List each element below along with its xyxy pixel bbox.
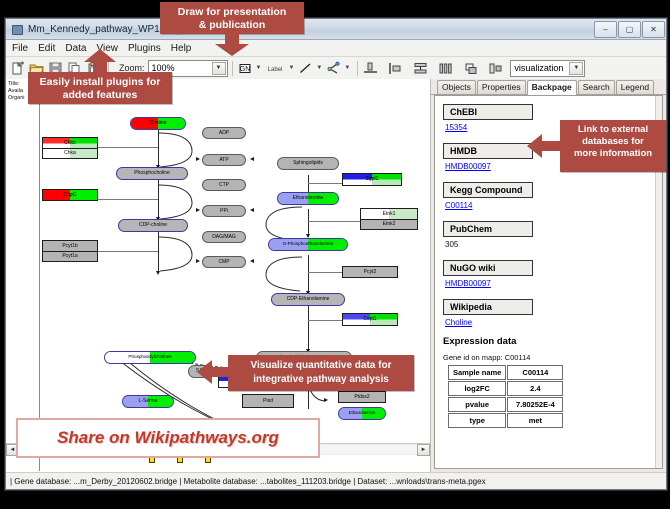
node-cdp-ethanolamine[interactable]: CDP-Ethanolamine	[271, 293, 345, 306]
callout-plugins: Easily install plugins for added feature…	[28, 72, 172, 104]
callout-draw-line2: & publication	[167, 19, 297, 32]
node-pcyt2[interactable]: Pcyt2	[342, 266, 398, 278]
statusbar-text: | Gene database: ...m_Derby_20120602.bri…	[10, 477, 486, 486]
chevron-down-icon[interactable]: ▼	[288, 65, 294, 71]
order-front-icon[interactable]	[487, 60, 504, 77]
table-cell-value: 2.4	[507, 381, 563, 396]
anchor-icon[interactable]	[325, 60, 342, 77]
tab-properties[interactable]: Properties	[477, 80, 526, 94]
pathway-canvas[interactable]: Title: Availa Organi	[6, 79, 430, 471]
node-etnk2[interactable]: Etnk2	[360, 219, 418, 230]
table-cell-value: 7.80252E-4	[507, 397, 563, 412]
backpage-header-wikipedia: Wikipedia	[443, 299, 533, 315]
distribute-icon[interactable]	[437, 60, 454, 77]
toolbar-separator	[357, 61, 358, 76]
arrow-right-icon	[196, 208, 200, 212]
toolbar-separator	[232, 61, 233, 76]
node-phosphocholine[interactable]: Phosphocholine	[116, 167, 188, 180]
maximize-button[interactable]: ▢	[618, 21, 641, 38]
callout-links-arrow-icon	[526, 132, 562, 160]
callout-links-line2: databases for	[567, 136, 659, 148]
chevron-down-icon[interactable]: ▼	[256, 65, 262, 71]
stack-icon[interactable]	[412, 60, 429, 77]
statusbar: | Gene database: ...m_Derby_20120602.bri…	[6, 472, 666, 489]
node-o-phosphoethanolamine[interactable]: O-Phosphoethanolamine	[268, 238, 348, 251]
callout-visualize-line1: Visualize quantitative data for	[235, 359, 407, 373]
arrow-right-icon	[324, 398, 328, 402]
node-ethanolamine-lower[interactable]: Ethanolamine	[338, 407, 386, 420]
table-row: type met	[448, 413, 563, 428]
arrow-right-icon	[196, 259, 200, 263]
node-ppi[interactable]: PPi	[202, 205, 246, 217]
expression-data-title: Expression data	[443, 336, 654, 347]
chevron-down-icon[interactable]: ▼	[316, 65, 322, 71]
close-button[interactable]: ✕	[642, 21, 665, 38]
table-cell-label: type	[448, 413, 506, 428]
table-cell-value: met	[507, 413, 563, 428]
table-cell-label: Sample name	[448, 365, 506, 380]
node-adp[interactable]: ADP	[202, 127, 246, 139]
app-icon	[11, 23, 23, 35]
node-phosphatidylcholines[interactable]: Phosphatidylcholines	[104, 351, 196, 364]
node-chpt1[interactable]: Chpt1	[42, 189, 98, 201]
node-l-serine-left[interactable]: L-Serine	[122, 395, 174, 408]
node-chkb[interactable]: Chkb	[42, 137, 98, 148]
visualization-combobox[interactable]: visualization ▼	[510, 60, 585, 77]
node-pcyt1a[interactable]: Pcyt1a	[42, 251, 98, 262]
menu-item-edit[interactable]: Edit	[38, 43, 55, 54]
callout-visualize: Visualize quantitative data for integrat…	[228, 355, 414, 391]
label-icon[interactable]: Label	[264, 60, 286, 77]
arrow-right-icon	[196, 157, 200, 161]
conversion-arcs-right	[238, 201, 314, 341]
menu-item-file[interactable]: File	[12, 43, 28, 54]
node-sgpl1[interactable]: Sgpl1	[342, 173, 402, 186]
backpage-link-nugo[interactable]: HMDB00097	[445, 279, 654, 288]
datanode-icon[interactable]: GN	[237, 60, 254, 77]
node-cept1[interactable]: Cept1	[342, 313, 398, 326]
scroll-right-icon[interactable]: ►	[417, 444, 430, 456]
callout-draw-arrow-icon	[212, 32, 252, 57]
table-row: pvalue 7.80252E-4	[448, 397, 563, 412]
callout-plugins-line1: Easily install plugins for	[35, 76, 165, 89]
node-pisd[interactable]: Pisd	[242, 394, 294, 408]
backpage-link-kegg[interactable]: C00114	[445, 201, 654, 210]
svg-text:Label: Label	[268, 67, 283, 73]
backpage-header-nugo: NuGO wiki	[443, 260, 533, 276]
chevron-down-icon[interactable]: ▼	[212, 62, 226, 75]
edge-sgpl1-link	[308, 183, 342, 184]
tab-backpage[interactable]: Backpage	[527, 80, 577, 95]
node-ethanolamine-top[interactable]: Ethanolamine	[277, 192, 339, 205]
minimize-button[interactable]: –	[594, 21, 617, 38]
expression-data-table: Sample name C00114 log2FC 2.4 pvalue 7.8…	[447, 364, 564, 429]
arrow-left-icon	[250, 157, 254, 161]
callout-share-text: Share on Wikipathways.org	[57, 428, 279, 448]
new-file-icon[interactable]	[9, 60, 26, 77]
callout-links-line3: more information	[567, 148, 659, 160]
menu-item-plugins[interactable]: Plugins	[128, 43, 161, 54]
pathway-canvas-pane[interactable]: Title: Availa Organi	[6, 79, 431, 472]
menu-item-help[interactable]: Help	[171, 43, 192, 54]
chevron-down-icon[interactable]: ▼	[344, 65, 350, 71]
callout-draw: Draw for presentation & publication	[160, 2, 304, 34]
callout-visualize-line2: integrative pathway analysis	[235, 373, 407, 387]
window-titlebar: Mm_Kennedy_pathway_WP1771_45176.gpml – ▢…	[6, 19, 666, 40]
node-pcyt1b[interactable]: Pcyt1b	[42, 240, 98, 251]
callout-draw-line1: Draw for presentation	[167, 6, 297, 19]
node-atp[interactable]: ATP	[202, 154, 246, 166]
backpage-value-pubchem: 305	[445, 240, 654, 249]
backpage-header-kegg: Kegg Compound	[443, 182, 533, 198]
node-dag-mag[interactable]: DAG/MAG	[202, 231, 246, 243]
arrow-left-icon	[250, 208, 254, 212]
chevron-down-icon[interactable]: ▼	[569, 62, 583, 75]
gene-id-line: Gene id on mapp: C00114	[443, 353, 654, 362]
node-cdp-choline[interactable]: CDP-choline	[118, 219, 188, 232]
arrow-left-icon	[250, 259, 254, 263]
tab-objects[interactable]: Objects	[437, 80, 476, 94]
callout-links: Link to external databases for more info…	[560, 120, 666, 172]
tab-search[interactable]: Search	[578, 80, 615, 94]
callout-links-line1: Link to external	[567, 124, 659, 136]
node-ctp[interactable]: CTP	[202, 179, 246, 191]
callout-visualize-arrow-icon	[196, 358, 232, 386]
node-etnk1[interactable]: Etnk1	[360, 208, 418, 219]
callout-plugins-arrow-icon	[82, 48, 118, 74]
table-row: Sample name C00114	[448, 365, 563, 380]
table-row: log2FC 2.4	[448, 381, 563, 396]
callout-plugins-line2: added features	[35, 89, 165, 102]
tab-legend[interactable]: Legend	[616, 80, 654, 94]
callout-share: Share on Wikipathways.org	[16, 418, 320, 458]
node-ptdss2[interactable]: Ptdss2	[338, 391, 386, 403]
screenshot-root: Mm_Kennedy_pathway_WP1771_45176.gpml – ▢…	[0, 0, 670, 509]
backpage-header-chebi: ChEBI	[443, 104, 533, 120]
align-top-icon[interactable]	[362, 60, 379, 77]
table-cell-value: C00114	[507, 365, 563, 380]
line-icon[interactable]	[297, 60, 314, 77]
node-cmp[interactable]: CMP	[202, 256, 246, 268]
node-chka[interactable]: Chka	[42, 148, 98, 159]
edge-etnk-link	[308, 221, 360, 222]
node-sphingolipids[interactable]: Sphingolipids	[277, 157, 339, 170]
svg-text:GN: GN	[239, 66, 250, 73]
order-back-icon[interactable]	[462, 60, 479, 77]
canvas-divider	[39, 79, 40, 471]
node-choline-top[interactable]: Choline	[130, 117, 186, 130]
align-left-icon[interactable]	[387, 60, 404, 77]
window-buttons: – ▢ ✕	[594, 21, 666, 38]
backpage-link-wikipedia[interactable]: Choline	[445, 318, 654, 327]
side-panel-tabs: Objects Properties Backpage Search Legen…	[431, 79, 666, 95]
visualization-value: visualization	[514, 63, 563, 73]
backpage-header-pubchem: PubChem	[443, 221, 533, 237]
backpage-header-hmdb: HMDB	[443, 143, 533, 159]
table-cell-label: pvalue	[448, 397, 506, 412]
table-cell-label: log2FC	[448, 381, 506, 396]
